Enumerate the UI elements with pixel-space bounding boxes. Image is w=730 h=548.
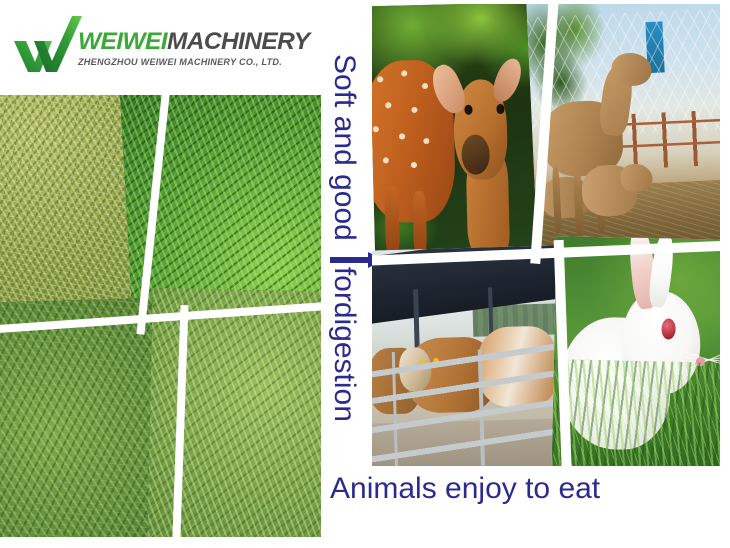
brand-subtitle: ZHENGZHOU WEIWEI MACHINERY CO., LTD. bbox=[78, 57, 318, 67]
white-rabbit-scene bbox=[552, 236, 720, 466]
brand-wordmark: WEIWEIMACHINERY ZHENGZHOU WEIWEI MACHINE… bbox=[78, 30, 318, 74]
photo-cattle-barn bbox=[372, 245, 567, 466]
deer-closeup-scene bbox=[372, 4, 553, 258]
page-right-margin bbox=[722, 0, 730, 548]
photo-deer-closeup bbox=[372, 4, 553, 258]
callout-line-a: Soft and good bbox=[328, 54, 361, 241]
brand-name-machinery: MACHINERY bbox=[167, 28, 310, 55]
weiwei-w-checkmark-logo-icon bbox=[12, 14, 84, 76]
grass-collage bbox=[0, 92, 321, 537]
deer-leg-front bbox=[384, 187, 400, 258]
brand-name: WEIWEIMACHINERY bbox=[78, 30, 318, 55]
deer-leg-rear bbox=[413, 191, 427, 257]
cattle-barn-scene bbox=[372, 245, 567, 466]
deer-standing-head bbox=[611, 52, 652, 86]
deer-lying-near-head bbox=[620, 163, 653, 192]
promo-poster: WEIWEIMACHINERY ZHENGZHOU WEIWEI MACHINE… bbox=[0, 0, 730, 548]
callout-line-b: fordigestion bbox=[328, 267, 361, 422]
bottom-caption: Animals enjoy to eat bbox=[330, 472, 600, 506]
brand-logo: WEIWEIMACHINERY ZHENGZHOU WEIWEI MACHINE… bbox=[12, 14, 312, 76]
photo-collage bbox=[372, 4, 720, 466]
brand-name-weiwei: WEIWEI bbox=[78, 28, 167, 55]
photo-white-rabbit bbox=[552, 236, 720, 466]
arrow-shaft bbox=[330, 257, 372, 263]
rabbit-grass-foreground bbox=[552, 359, 720, 466]
